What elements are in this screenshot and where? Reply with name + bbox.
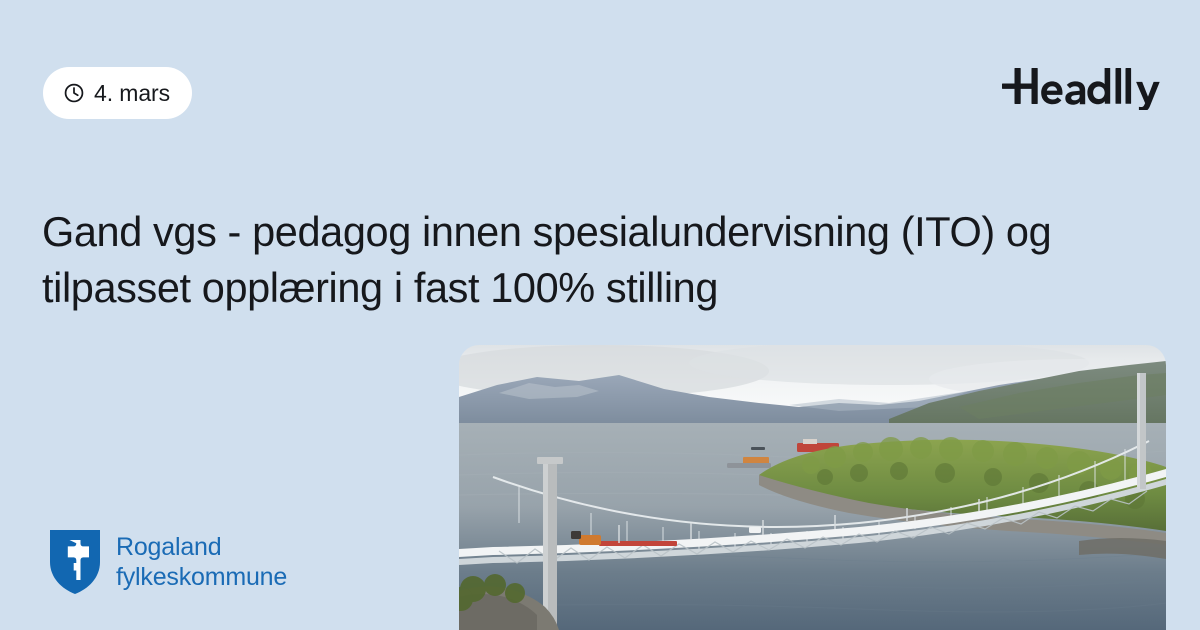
shield-cross-icon bbox=[48, 528, 102, 596]
article-photo bbox=[459, 345, 1166, 630]
page-title: Gand vgs - pedagog innen spesialundervis… bbox=[42, 204, 1112, 316]
clock-icon bbox=[63, 82, 85, 104]
organization-name-line1: Rogaland bbox=[116, 532, 287, 563]
date-badge: 4. mars bbox=[43, 67, 192, 119]
organization-name: Rogaland fylkeskommune bbox=[116, 532, 287, 593]
organization-logo: Rogaland fylkeskommune bbox=[48, 528, 287, 596]
date-label: 4. mars bbox=[94, 82, 170, 105]
headly-logo bbox=[1002, 62, 1162, 110]
organization-name-line2: fylkeskommune bbox=[116, 562, 287, 593]
